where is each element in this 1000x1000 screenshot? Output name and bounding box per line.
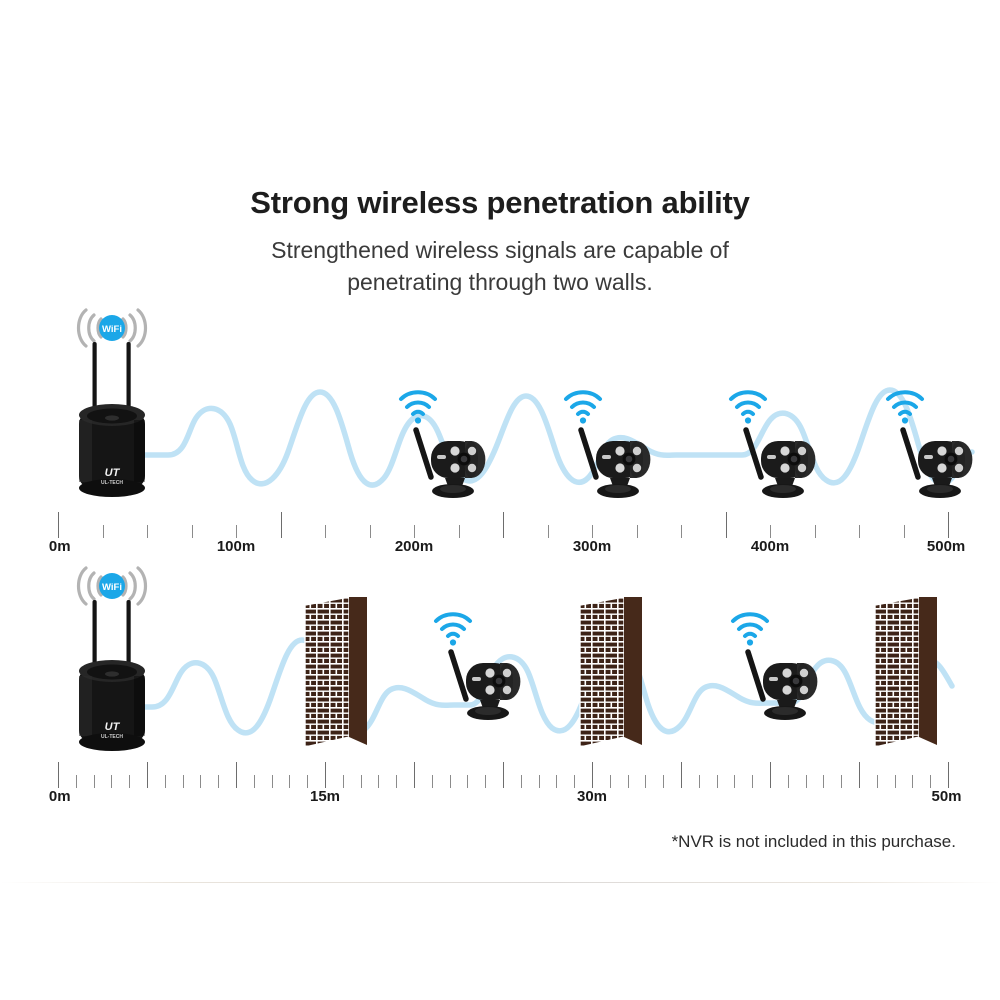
ruler-through-walls: 0m15m30m50m (58, 758, 948, 804)
brick-wall-1 (303, 597, 373, 755)
ruler-tick-minor (556, 775, 557, 788)
wall-face (875, 597, 919, 747)
nvr-brand: UT (105, 721, 121, 733)
wall-side (624, 597, 642, 745)
ruler-tick-minor (218, 775, 219, 788)
ruler-tick-minor (289, 775, 290, 788)
signal-arc-left (79, 568, 102, 604)
ruler-tick-minor (361, 775, 362, 788)
ruler-label: 50m (931, 788, 961, 805)
ruler-tick-minor (343, 775, 344, 788)
brick-wall-2 (578, 597, 648, 755)
camera-row2-2 (725, 605, 830, 725)
ruler-tick-minor (823, 775, 824, 788)
ruler-tick-minor (432, 775, 433, 788)
ruler-label: 0m (49, 788, 71, 805)
wall-side (919, 597, 937, 745)
wifi-icon (733, 614, 767, 636)
wifi-icon (436, 614, 470, 636)
ruler-tick-minor (485, 775, 486, 788)
brick-wall-3 (873, 597, 943, 755)
camera-antenna (451, 652, 466, 699)
ruler-tick-major (859, 762, 860, 788)
infographic-canvas: Strong wireless penetration ability Stre… (0, 0, 1000, 1000)
ruler-tick-minor (94, 775, 95, 788)
ruler-tick-minor (877, 775, 878, 788)
signal-arc-right (123, 568, 146, 604)
ruler-tick-minor (129, 775, 130, 788)
ruler-tick-minor (788, 775, 789, 788)
ruler-tick-minor (806, 775, 807, 788)
ruler-tick-minor (539, 775, 540, 788)
camera-body (466, 663, 520, 720)
ruler-tick-major (948, 762, 949, 788)
ruler-label: 15m (310, 788, 340, 805)
ruler-label: 30m (577, 788, 607, 805)
nvr-brand-sub: UL-TECH (101, 734, 123, 740)
ruler-tick-minor (912, 775, 913, 788)
footnote-nvr-disclaimer: *NVR is not included in this purchase. (0, 832, 956, 852)
ruler-tick-minor (628, 775, 629, 788)
ruler-tick-major (58, 762, 59, 788)
antenna-right (127, 600, 131, 670)
ruler-tick-major (414, 762, 415, 788)
ruler-tick-minor (895, 775, 896, 788)
ruler-tick-minor (699, 775, 700, 788)
ruler-tick-minor (752, 775, 753, 788)
ruler-tick-major (770, 762, 771, 788)
ruler-tick-major (325, 762, 326, 788)
ruler-tick-minor (717, 775, 718, 788)
camera-body (763, 663, 817, 720)
ruler-tick-major (236, 762, 237, 788)
ruler-tick-minor (645, 775, 646, 788)
ruler-tick-minor (111, 775, 112, 788)
wifi-badge-label: WiFi (102, 582, 122, 593)
ruler-tick-minor (76, 775, 77, 788)
ruler-tick-minor (574, 775, 575, 788)
ruler-tick-minor (450, 775, 451, 788)
ruler-tick-major (147, 762, 148, 788)
ruler-tick-minor (378, 775, 379, 788)
ruler-tick-minor (307, 775, 308, 788)
ruler-tick-minor (734, 775, 735, 788)
ruler-tick-minor (200, 775, 201, 788)
ruler-tick-minor (165, 775, 166, 788)
ruler-tick-major (592, 762, 593, 788)
nvr-device-row2: WiFi UT UL-TECH (56, 560, 168, 752)
camera-antenna (748, 652, 763, 699)
ruler-tick-major (503, 762, 504, 788)
ruler-tick-minor (272, 775, 273, 788)
ruler-tick-minor (841, 775, 842, 788)
ruler-tick-minor (467, 775, 468, 788)
camera-row2-1 (428, 605, 533, 725)
ruler-tick-minor (930, 775, 931, 788)
wall-face (580, 597, 624, 747)
ruler-tick-minor (610, 775, 611, 788)
ruler-tick-minor (663, 775, 664, 788)
wall-face (305, 597, 349, 747)
bottom-divider (0, 882, 1000, 883)
wall-side (349, 597, 367, 745)
antenna-left (93, 600, 97, 670)
ruler-tick-major (681, 762, 682, 788)
ruler-tick-minor (183, 775, 184, 788)
ruler-tick-minor (396, 775, 397, 788)
ruler-tick-minor (521, 775, 522, 788)
ruler-tick-minor (254, 775, 255, 788)
